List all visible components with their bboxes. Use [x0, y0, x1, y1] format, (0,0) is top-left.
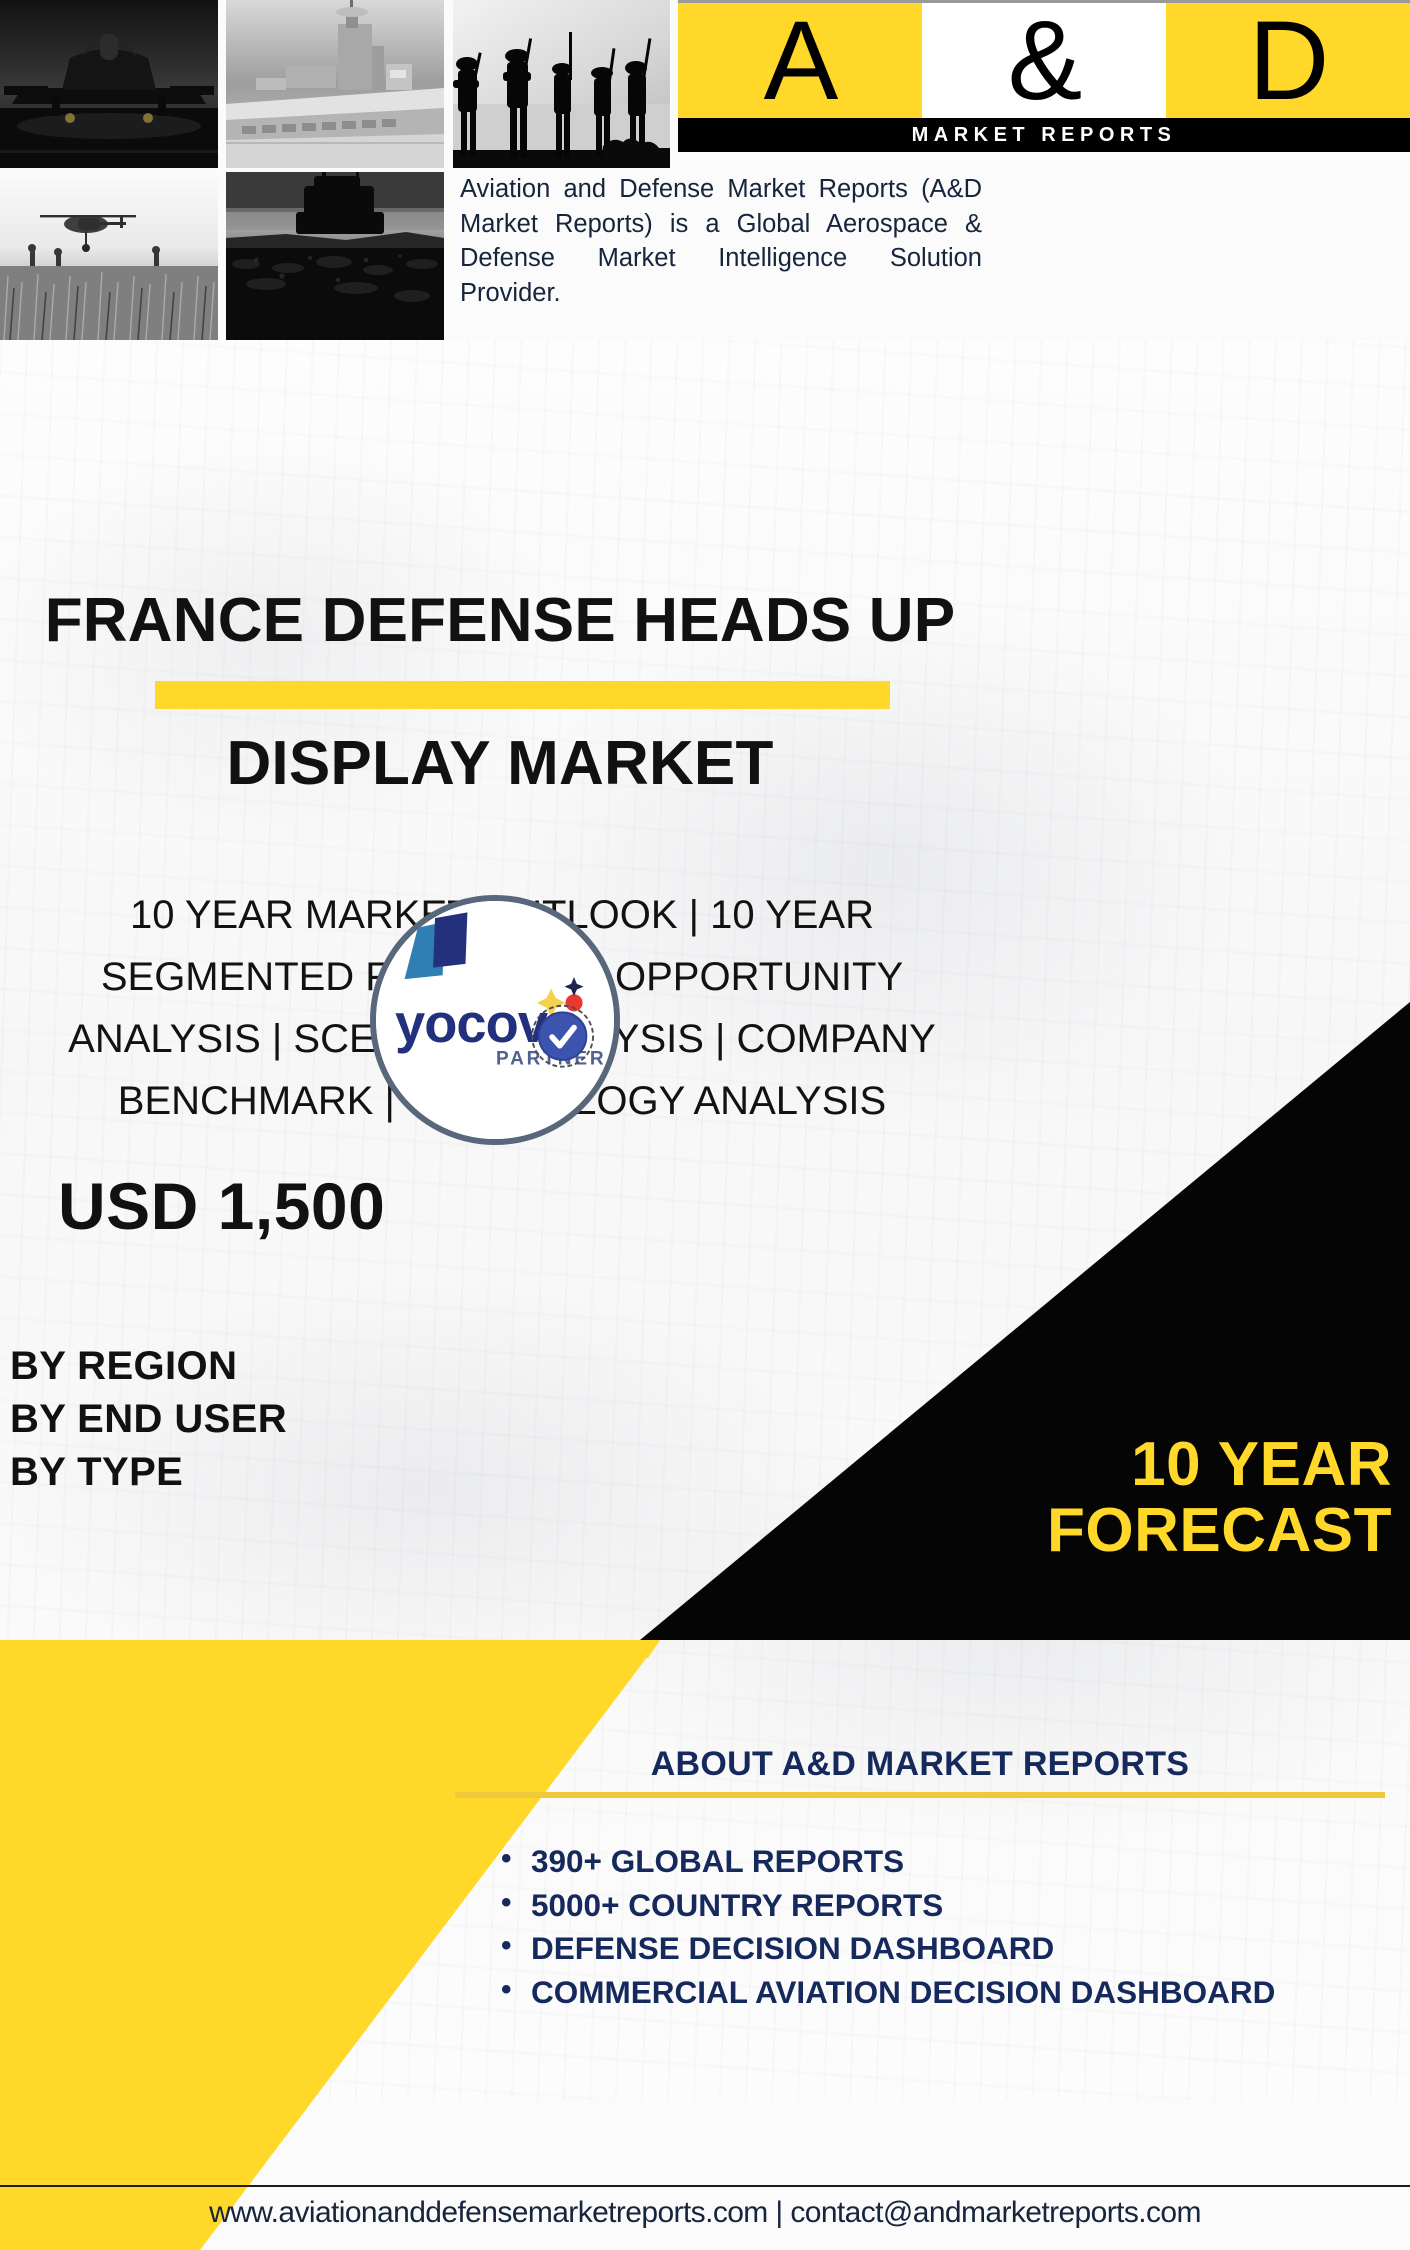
about-heading-underline	[455, 1792, 1385, 1798]
logo-cell-d: D	[1166, 3, 1410, 118]
about-heading: ABOUT A&D MARKET REPORTS	[455, 1745, 1385, 1784]
segment-item-type: BY TYPE	[10, 1446, 430, 1499]
logo-letter-a: A	[764, 13, 837, 108]
list-item: 5000+ COUNTRY REPORTS	[501, 1886, 1385, 1926]
forecast-line-1: 10 YEAR	[640, 1432, 1400, 1498]
company-intro-text: Aviation and Defense Market Reports (A&D…	[460, 172, 982, 311]
list-item: 390+ GLOBAL REPORTS	[501, 1842, 1385, 1882]
footer-contact-text[interactable]: www.aviationanddefensemarketreports.com …	[0, 2196, 1410, 2230]
logo-letter-row: A & D	[678, 3, 1410, 118]
logo-cell-a: A	[678, 3, 922, 118]
helicopter-field-photo	[0, 172, 218, 340]
price-label: USD 1,500	[58, 1168, 385, 1244]
yocova-badge-artwork: yocova PARTNER	[376, 901, 614, 1139]
ad-market-reports-logo[interactable]: A & D MARKET REPORTS	[678, 0, 1410, 152]
report-title-line-2: DISPLAY MARKET	[0, 731, 1000, 796]
list-item: DEFENSE DECISION DASHBOARD	[501, 1929, 1385, 1969]
fighter-jet-photo	[0, 0, 218, 168]
forecast-line-2: FORECAST	[640, 1498, 1400, 1564]
logo-tagline: MARKET REPORTS	[912, 124, 1177, 147]
yocova-partner-badge: yocova PARTNER	[370, 895, 620, 1145]
poster-canvas: A & D MARKET REPORTS Aviation and Defens…	[0, 0, 1410, 2250]
segment-item-region: BY REGION	[10, 1340, 430, 1393]
logo-letter-d: D	[1249, 13, 1328, 108]
about-section: ABOUT A&D MARKET REPORTS 390+ GLOBAL REP…	[455, 1745, 1385, 2017]
logo-cell-ampersand: &	[922, 3, 1166, 118]
report-title-block: FRANCE DEFENSE HEADS UP DISPLAY MARKET	[0, 588, 1000, 796]
report-title-line-1: FRANCE DEFENSE HEADS UP	[0, 588, 1000, 653]
logo-tagline-bar: MARKET REPORTS	[678, 118, 1410, 152]
forecast-callout: 10 YEAR FORECAST	[640, 1432, 1400, 1565]
aircraft-carrier-photo	[226, 0, 444, 168]
list-item: COMMERCIAL AVIATION DECISION DASHBOARD	[501, 1973, 1385, 2013]
segment-item-end-user: BY END USER	[10, 1393, 430, 1446]
about-bullet-list: 390+ GLOBAL REPORTS 5000+ COUNTRY REPORT…	[455, 1842, 1385, 2013]
segmentation-list: BY REGION BY END USER BY TYPE	[10, 1340, 430, 1500]
armored-vehicle-photo	[226, 172, 444, 340]
logo-letter-ampersand: &	[1008, 13, 1081, 108]
soldiers-silhouette-photo	[453, 0, 670, 168]
footer-divider	[0, 2185, 1410, 2187]
title-underline-rule	[155, 681, 890, 709]
